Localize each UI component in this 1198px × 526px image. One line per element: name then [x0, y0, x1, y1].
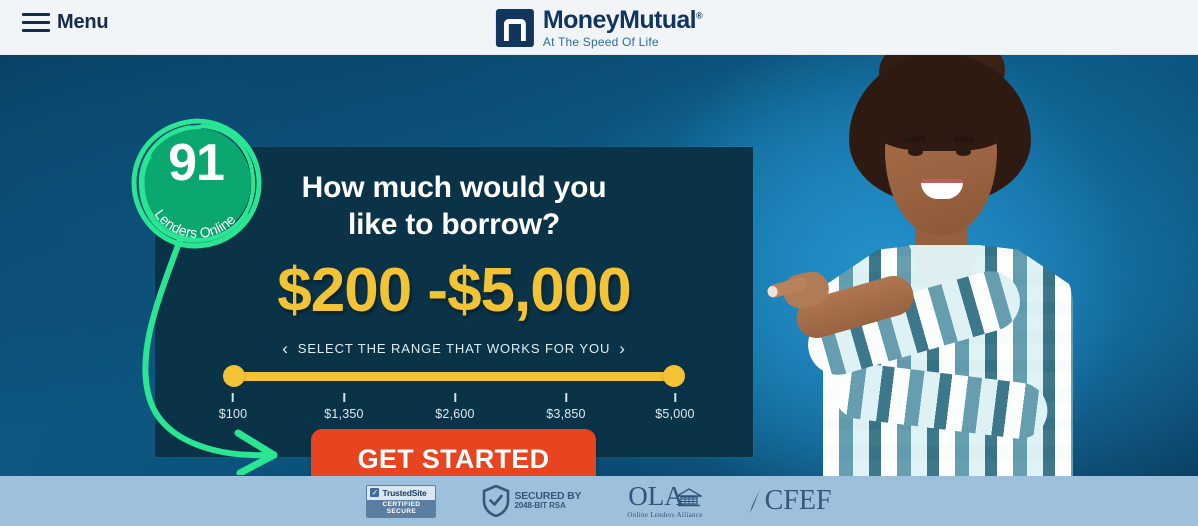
chevron-right-icon[interactable]: › — [619, 340, 626, 357]
shield-check-icon — [482, 485, 510, 517]
trustedsite-subtitle: CERTIFIED SECURE — [367, 500, 435, 517]
trust-badges-footer: ✓ TrustedSite CERTIFIED SECURE SECURED B… — [0, 476, 1198, 526]
slider-tick: $1,350 — [324, 393, 363, 421]
menu-button[interactable]: Menu — [22, 12, 108, 32]
loan-amount-range: $200 -$5,000 — [155, 255, 753, 326]
chevron-left-icon[interactable]: ‹ — [282, 340, 289, 357]
slider-handle-max[interactable] — [663, 365, 685, 387]
slider-tick: $3,850 — [546, 393, 585, 421]
logo-name-text: MoneyMutual — [543, 6, 696, 34]
logo-wordmark: MoneyMutual® — [543, 8, 702, 33]
slider-tick-label: $5,000 — [655, 407, 694, 421]
site-logo[interactable]: MoneyMutual® At The Speed Of Life — [496, 8, 702, 48]
badge-sketch-rings-icon — [120, 107, 272, 259]
select-range-control[interactable]: ‹ SELECT THE RANGE THAT WORKS FOR YOU › — [155, 340, 753, 357]
slider-track[interactable] — [232, 372, 676, 381]
select-range-label: SELECT THE RANGE THAT WORKS FOR YOU — [298, 341, 611, 356]
slider-tick-labels: $100 $1,350 $2,600 $3,850 $5,000 — [223, 393, 685, 427]
logo-text-group: MoneyMutual® At The Speed Of Life — [543, 8, 702, 48]
site-header: Menu MoneyMutual® At The Speed Of Life — [0, 0, 1198, 55]
slider-tick: $5,000 — [655, 393, 694, 421]
loan-amount-slider[interactable] — [223, 365, 685, 387]
cfef-badge[interactable]: CFEF — [749, 487, 832, 515]
registered-trademark-icon: ® — [696, 11, 702, 21]
page-root: Menu MoneyMutual® At The Speed Of Life — [0, 0, 1198, 526]
slider-tick-label: $3,850 — [546, 407, 585, 421]
secured-rsa-badge[interactable]: SECURED BY 2048-BIT RSA — [482, 485, 581, 517]
get-started-button[interactable]: GET STARTED — [311, 429, 596, 476]
slider-tick-label: $1,350 — [324, 407, 363, 421]
cfef-slash-icon — [749, 487, 763, 515]
lenders-online-badge: 91 Lenders Online — [120, 107, 272, 259]
hero-section: How much would you like to borrow? $200 … — [0, 55, 1198, 476]
secured-line-2: 2048-BIT RSA — [514, 502, 581, 511]
slider-tick: $100 — [219, 393, 248, 421]
moneymutual-logo-icon — [496, 9, 534, 47]
slider-tick-label: $2,600 — [435, 407, 474, 421]
checkmark-icon: ✓ — [370, 488, 379, 497]
cfef-title: CFEF — [765, 487, 832, 515]
ola-badge[interactable]: OLA Online Lenders Alliance — [627, 483, 702, 519]
hero-photo-woman-pointing — [793, 55, 1093, 476]
trustedsite-title: TrustedSite — [382, 488, 426, 498]
logo-tagline: At The Speed Of Life — [543, 36, 702, 48]
slider-tick-label: $100 — [219, 407, 248, 421]
slider-handle-min[interactable] — [223, 365, 245, 387]
menu-button-label: Menu — [57, 12, 108, 32]
slider-tick: $2,600 — [435, 393, 474, 421]
hamburger-icon — [22, 13, 50, 32]
trustedsite-badge[interactable]: ✓ TrustedSite CERTIFIED SECURE — [366, 485, 436, 518]
ola-pavilion-icon — [676, 487, 702, 509]
ola-subtitle: Online Lenders Alliance — [627, 511, 702, 519]
